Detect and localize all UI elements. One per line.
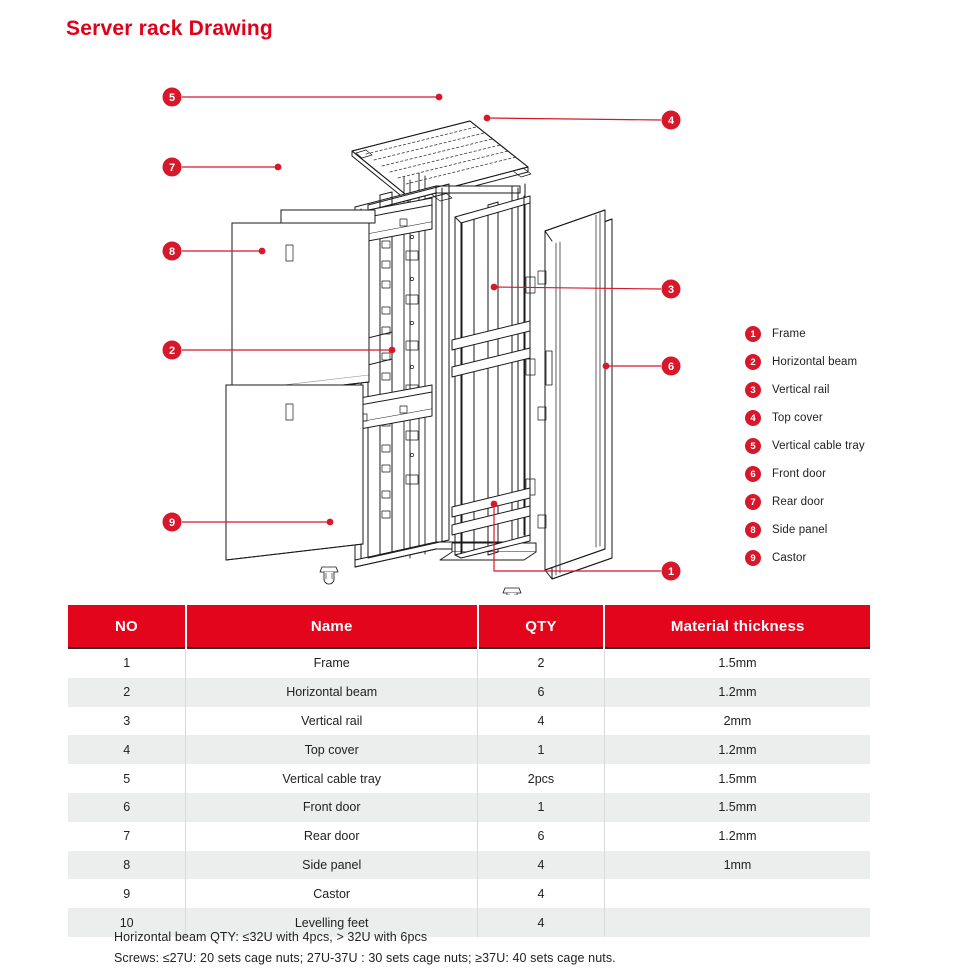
legend-badge-4: 4 bbox=[745, 410, 761, 426]
legend-label-2: Horizontal beam bbox=[772, 356, 857, 368]
svg-text:2: 2 bbox=[169, 345, 175, 357]
legend-badge-3: 3 bbox=[745, 382, 761, 398]
cell-name: Vertical cable tray bbox=[186, 764, 478, 793]
table-head: NO Name QTY Material thickness bbox=[68, 605, 870, 648]
legend-label-3: Vertical rail bbox=[772, 384, 830, 396]
legend-badge-6: 6 bbox=[745, 466, 761, 482]
cell-thickness: 1.2mm bbox=[604, 678, 870, 707]
legend-label-9: Castor bbox=[772, 552, 806, 564]
table-row: 7 Rear door 6 1.2mm bbox=[68, 822, 870, 851]
note-screws: Screws: ≤27U: 20 sets cage nuts; 27U-37U… bbox=[114, 948, 616, 969]
cell-name: Frame bbox=[186, 648, 478, 678]
legend-item-6: 6 Front door bbox=[745, 460, 960, 488]
cell-qty: 4 bbox=[478, 851, 605, 880]
cell-thickness: 1.5mm bbox=[604, 648, 870, 678]
legend-label-6: Front door bbox=[772, 468, 826, 480]
page-title: Server rack Drawing bbox=[66, 17, 273, 41]
legend-label-8: Side panel bbox=[772, 524, 827, 536]
cell-no: 2 bbox=[68, 678, 186, 707]
cell-thickness: 1.2mm bbox=[604, 735, 870, 764]
side-panel-part bbox=[226, 223, 369, 560]
legend-item-8: 8 Side panel bbox=[745, 516, 960, 544]
bill-of-materials-table: NO Name QTY Material thickness 1 Frame 2… bbox=[68, 605, 870, 937]
svg-text:7: 7 bbox=[169, 162, 175, 174]
column-header-name: Name bbox=[186, 605, 478, 648]
svg-text:4: 4 bbox=[668, 115, 675, 127]
cell-name: Side panel bbox=[186, 851, 478, 880]
footer-notes: Horizontal beam QTY: ≤32U with 4pcs, > 3… bbox=[114, 927, 616, 969]
svg-text:1: 1 bbox=[668, 566, 674, 578]
callout-badge-5: 5 bbox=[163, 88, 182, 107]
column-header-thickness: Material thickness bbox=[604, 605, 870, 648]
svg-text:9: 9 bbox=[169, 517, 175, 529]
legend-label-4: Top cover bbox=[772, 412, 823, 424]
cell-name: Castor bbox=[186, 879, 478, 908]
cell-no: 3 bbox=[68, 707, 186, 736]
cell-qty: 2 bbox=[478, 648, 605, 678]
parts-legend: 1 Frame 2 Horizontal beam 3 Vertical rai… bbox=[745, 320, 960, 572]
cell-thickness bbox=[604, 908, 870, 937]
legend-badge-7: 7 bbox=[745, 494, 761, 510]
table-row: 5 Vertical cable tray 2pcs 1.5mm bbox=[68, 764, 870, 793]
legend-item-3: 3 Vertical rail bbox=[745, 376, 960, 404]
cell-qty: 1 bbox=[478, 793, 605, 822]
legend-item-5: 5 Vertical cable tray bbox=[745, 432, 960, 460]
castor-part bbox=[320, 567, 521, 595]
legend-item-9: 9 Castor bbox=[745, 544, 960, 572]
table-body: 1 Frame 2 1.5mm 2 Horizontal beam 6 1.2m… bbox=[68, 648, 870, 937]
cell-no: 5 bbox=[68, 764, 186, 793]
table-row: 8 Side panel 4 1mm bbox=[68, 851, 870, 880]
rear-door-part bbox=[281, 210, 375, 223]
table-row: 4 Top cover 1 1.2mm bbox=[68, 735, 870, 764]
table-row: 9 Castor 4 bbox=[68, 879, 870, 908]
callout-badge-1: 1 bbox=[662, 562, 681, 581]
cell-no: 4 bbox=[68, 735, 186, 764]
cell-name: Vertical rail bbox=[186, 707, 478, 736]
callout-badge-9: 9 bbox=[163, 513, 182, 532]
cell-name: Top cover bbox=[186, 735, 478, 764]
table-row: 6 Front door 1 1.5mm bbox=[68, 793, 870, 822]
cell-no: 7 bbox=[68, 822, 186, 851]
server-rack-drawing-page: Server rack Drawing bbox=[0, 0, 969, 974]
callout-badge-7: 7 bbox=[163, 158, 182, 177]
front-door-part bbox=[538, 210, 612, 579]
cell-thickness: 2mm bbox=[604, 707, 870, 736]
cell-qty: 6 bbox=[478, 678, 605, 707]
legend-label-1: Frame bbox=[772, 328, 806, 340]
cell-thickness: 1.2mm bbox=[604, 822, 870, 851]
cell-thickness: 1mm bbox=[604, 851, 870, 880]
cell-no: 6 bbox=[68, 793, 186, 822]
cell-qty: 2pcs bbox=[478, 764, 605, 793]
cell-qty: 1 bbox=[478, 735, 605, 764]
cell-qty: 6 bbox=[478, 822, 605, 851]
svg-text:3: 3 bbox=[668, 284, 674, 296]
legend-item-7: 7 Rear door bbox=[745, 488, 960, 516]
callout-badge-4: 4 bbox=[662, 111, 681, 130]
legend-item-4: 4 Top cover bbox=[745, 404, 960, 432]
cell-thickness bbox=[604, 879, 870, 908]
cell-no: 9 bbox=[68, 879, 186, 908]
cell-no: 8 bbox=[68, 851, 186, 880]
column-header-no: NO bbox=[68, 605, 186, 648]
cell-name: Rear door bbox=[186, 822, 478, 851]
svg-text:5: 5 bbox=[169, 92, 175, 104]
legend-badge-5: 5 bbox=[745, 438, 761, 454]
cell-thickness: 1.5mm bbox=[604, 764, 870, 793]
note-horizontal-beam-qty: Horizontal beam QTY: ≤32U with 4pcs, > 3… bbox=[114, 927, 616, 948]
column-header-qty: QTY bbox=[478, 605, 605, 648]
legend-item-1: 1 Frame bbox=[745, 320, 960, 348]
legend-item-2: 2 Horizontal beam bbox=[745, 348, 960, 376]
table-row: 2 Horizontal beam 6 1.2mm bbox=[68, 678, 870, 707]
cell-qty: 4 bbox=[478, 879, 605, 908]
table-row: 1 Frame 2 1.5mm bbox=[68, 648, 870, 678]
legend-badge-2: 2 bbox=[745, 354, 761, 370]
cell-qty: 4 bbox=[478, 707, 605, 736]
legend-label-7: Rear door bbox=[772, 496, 824, 508]
cell-no: 1 bbox=[68, 648, 186, 678]
callout-badge-8: 8 bbox=[163, 242, 182, 261]
cell-thickness: 1.5mm bbox=[604, 793, 870, 822]
legend-badge-1: 1 bbox=[745, 326, 761, 342]
cell-name: Front door bbox=[186, 793, 478, 822]
cell-name: Horizontal beam bbox=[186, 678, 478, 707]
legend-label-5: Vertical cable tray bbox=[772, 440, 865, 452]
svg-text:6: 6 bbox=[668, 361, 674, 373]
callout-badge-3: 3 bbox=[662, 280, 681, 299]
table-row: 3 Vertical rail 4 2mm bbox=[68, 707, 870, 736]
legend-badge-8: 8 bbox=[745, 522, 761, 538]
table-header-row: NO Name QTY Material thickness bbox=[68, 605, 870, 648]
svg-text:8: 8 bbox=[169, 246, 175, 258]
callout-badge-2: 2 bbox=[163, 341, 182, 360]
callout-badge-6: 6 bbox=[662, 357, 681, 376]
legend-badge-9: 9 bbox=[745, 550, 761, 566]
